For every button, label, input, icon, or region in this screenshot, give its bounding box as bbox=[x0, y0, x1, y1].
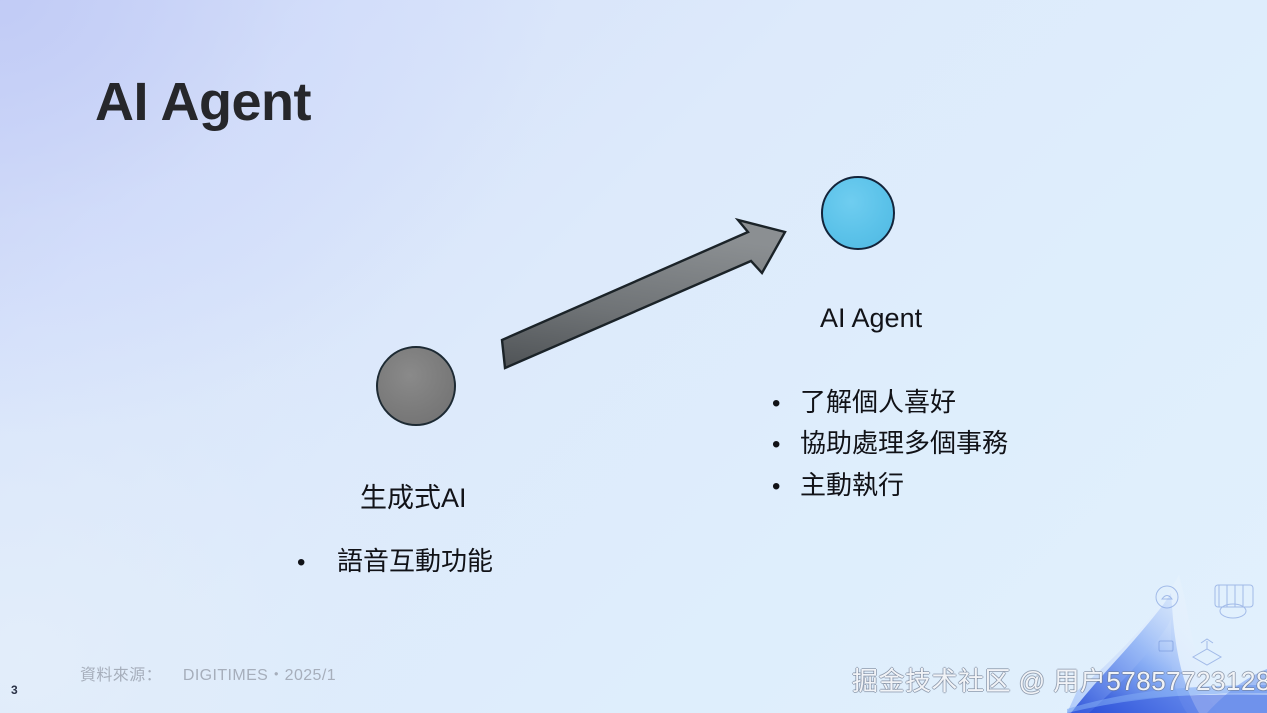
slide-canvas: AI Agent AI Agent 生成式AI • 了解個人喜好 • 協助處理多… bbox=[0, 0, 1267, 713]
source-node-label: 生成式AI bbox=[360, 476, 467, 515]
bullet-dot-icon: • bbox=[297, 551, 337, 575]
page-number: 3 bbox=[11, 683, 18, 697]
list-item: • 協助處理多個事務 bbox=[772, 427, 1008, 460]
bullet-dot-icon: • bbox=[772, 433, 800, 457]
list-item-label: 主動執行 bbox=[800, 469, 904, 502]
watermark-text: 掘金技术社区 @ 用户57857723128 bbox=[852, 661, 1267, 698]
list-item: • 主動執行 bbox=[772, 469, 1008, 502]
target-node-label: AI Agent bbox=[820, 303, 922, 334]
target-node-circle bbox=[821, 176, 895, 250]
footer-source-value: DIGITIMES・2025/1 bbox=[183, 667, 336, 684]
list-item-label: 協助處理多個事務 bbox=[800, 427, 1008, 460]
list-item-label: 語音互動功能 bbox=[337, 545, 493, 578]
footer-source-label: 資料來源： bbox=[80, 667, 162, 684]
list-item: • 語音互動功能 bbox=[297, 545, 493, 578]
bullet-dot-icon: • bbox=[772, 392, 800, 416]
list-item-label: 了解個人喜好 bbox=[800, 386, 956, 419]
bullet-dot-icon: • bbox=[772, 475, 800, 499]
source-bullet-list: • 語音互動功能 bbox=[297, 545, 493, 578]
evolution-arrow-icon bbox=[480, 210, 810, 390]
target-bullet-list: • 了解個人喜好 • 協助處理多個事務 • 主動執行 bbox=[772, 386, 1008, 510]
source-node-circle bbox=[376, 346, 456, 426]
list-item: • 了解個人喜好 bbox=[772, 386, 1008, 419]
footer-source-credit: 資料來源： DIGITIMES・2025/1 bbox=[80, 661, 336, 685]
page-title: AI Agent bbox=[95, 73, 311, 132]
